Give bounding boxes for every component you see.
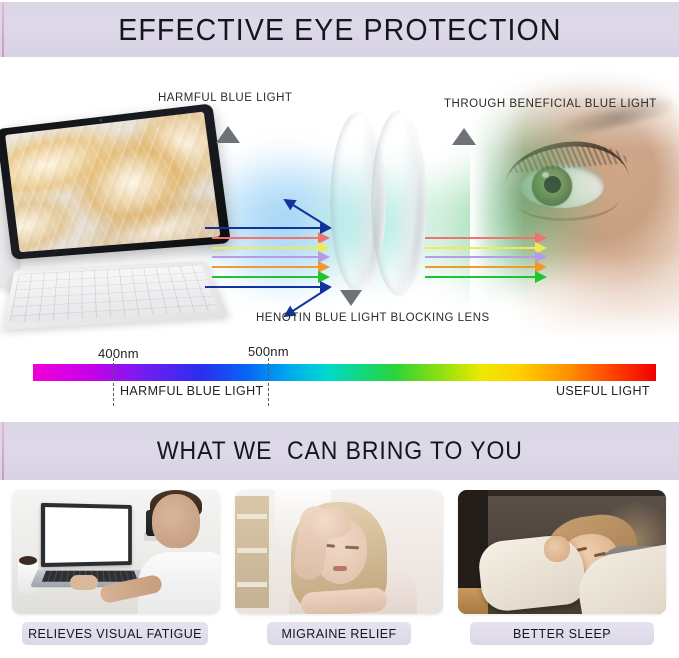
triangle-up-icon-left [216, 126, 240, 143]
shelf [235, 496, 269, 608]
pillow [477, 533, 588, 613]
card-caption: MIGRAINE RELIEF [267, 622, 411, 645]
spectrum-tick-400nm: 400nm [98, 346, 139, 361]
woman-lower-arm [300, 587, 387, 614]
benefit-card-migraine-relief[interactable]: MIGRAINE RELIEF [235, 490, 443, 645]
photo-man-at-laptop [12, 490, 220, 614]
photo-woman-sleeping [458, 490, 666, 614]
card-caption: BETTER SLEEP [470, 622, 654, 645]
light-spectrum-section: 400nm 500nm HARMFUL BLUE LIGHT USEFUL LI… [0, 350, 679, 422]
triangle-down-icon [340, 290, 362, 306]
label-harmful-blue-light: HARMFUL BLUE LIGHT [158, 92, 292, 104]
laptop-screen [41, 503, 132, 567]
header-band-middle: WHAT WE CAN BRING TO YOU [0, 422, 679, 480]
incoming-rays [212, 238, 328, 277]
spectrum-gradient-bar [33, 364, 656, 381]
section2-title: WHAT WE CAN BRING TO YOU [157, 439, 523, 464]
spectrum-marker-400 [113, 358, 114, 406]
label-through-beneficial: THROUGH BENEFICIAL BLUE LIGHT [444, 98, 657, 110]
outgoing-rays [425, 238, 545, 277]
spectrum-marker-500 [268, 358, 269, 406]
hero-illustration: HARMFUL BLUE LIGHT THROUGH BENEFICIAL BL… [0, 58, 679, 350]
spectrum-label-harmful: HARMFUL BLUE LIGHT [120, 384, 264, 398]
woman-mouth [333, 566, 347, 571]
sleeper-hand [544, 536, 570, 562]
benefit-cards: RELIEVES VISUAL FATIGUE MIGRAINE RELIEF [0, 490, 679, 658]
page-title: EFFECTIVE EYE PROTECTION [118, 14, 561, 45]
infographic-page: EFFECTIVE EYE PROTECTION [0, 0, 679, 658]
benefit-card-visual-fatigue[interactable]: RELIEVES VISUAL FATIGUE [12, 490, 220, 645]
label-blocking-lens: HENOTIN BLUE LIGHT BLOCKING LENS [256, 312, 490, 324]
triangle-up-icon-right [452, 128, 476, 145]
spectrum-tick-500nm: 500nm [248, 344, 289, 359]
card-caption: RELIEVES VISUAL FATIGUE [22, 622, 208, 645]
photo-woman-headache [235, 490, 443, 614]
man-hand [70, 575, 98, 590]
benefit-card-better-sleep[interactable]: BETTER SLEEP [458, 490, 666, 645]
man-head [152, 494, 200, 548]
header-band-top: EFFECTIVE EYE PROTECTION [0, 2, 679, 57]
spectrum-label-useful: USEFUL LIGHT [556, 384, 650, 398]
